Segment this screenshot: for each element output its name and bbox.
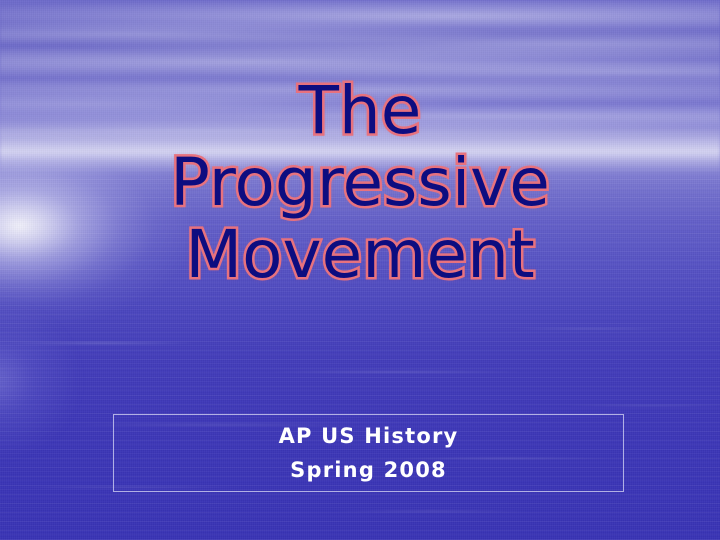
subtitle-course: AP US History — [279, 426, 459, 447]
subtitle-textbox: AP US History Spring 2008 — [113, 414, 624, 492]
title-line-2: Progressive — [0, 150, 720, 216]
subtitle-term: Spring 2008 — [290, 460, 447, 481]
title-line-3: Movement — [0, 222, 720, 288]
title-line-1: The — [0, 78, 720, 144]
slide-title: The Progressive Movement — [0, 78, 720, 288]
presentation-slide: The Progressive Movement AP US History S… — [0, 0, 720, 540]
